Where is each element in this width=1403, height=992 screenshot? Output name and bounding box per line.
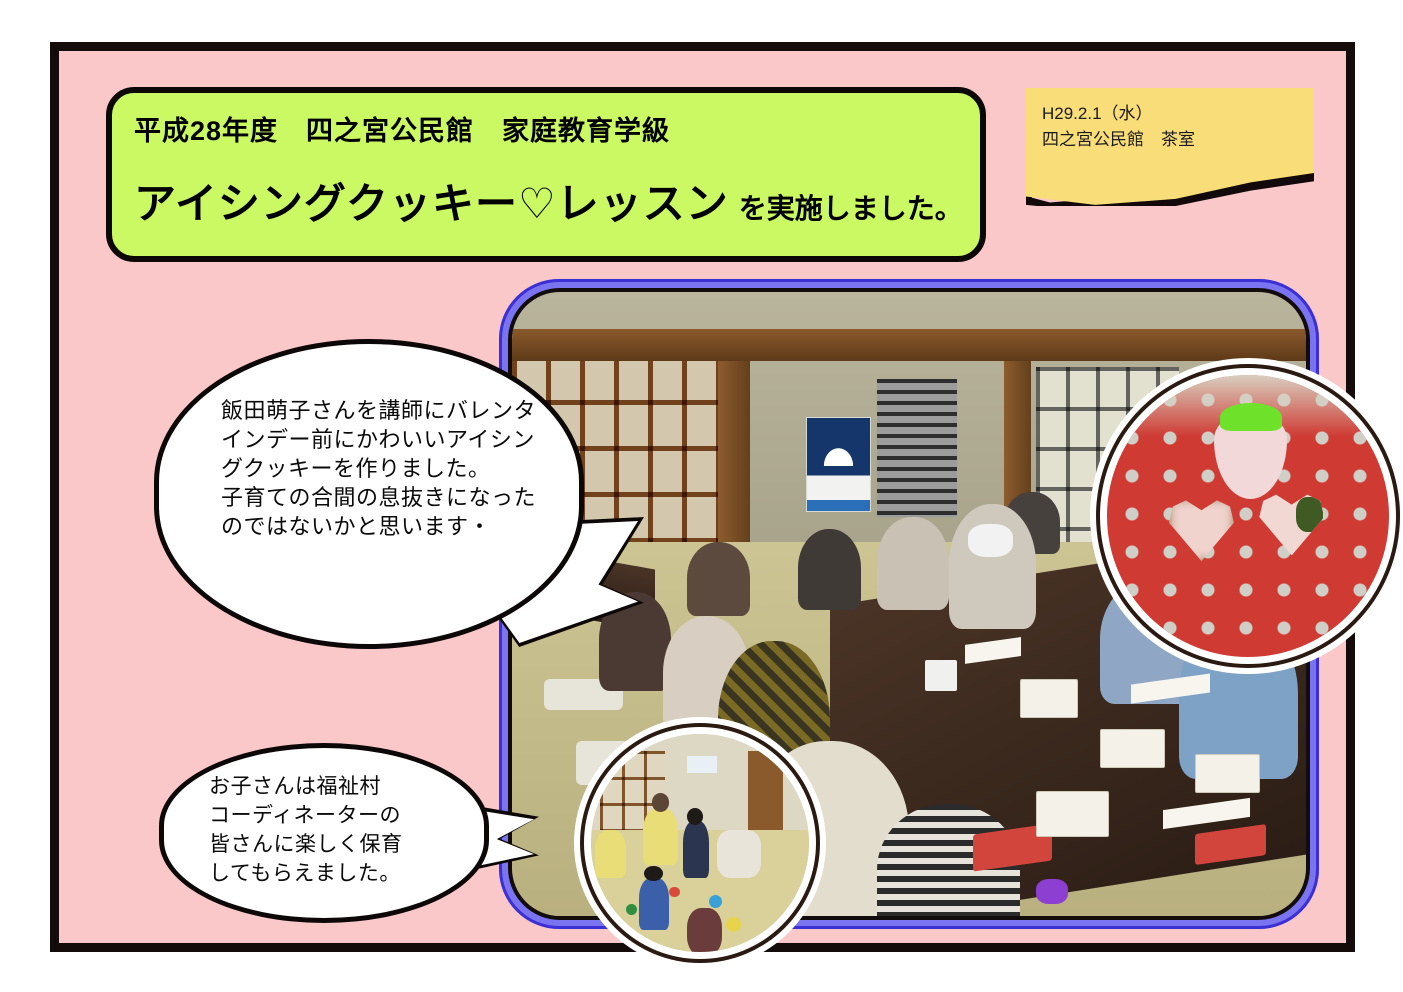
photo-gift-box — [1195, 754, 1261, 793]
bubble-text: 飯田萌子さんを講師にバレンタインデー前にかわいいアイシングクッキーを作りました。… — [221, 396, 551, 541]
title-banner: 平成28年度 四之宮公民館 家庭教育学級 アイシングクッキー♡レッスン を実施し… — [106, 87, 986, 262]
bubble-body: お子さんは福祉村 コーディネーターの 皆さんに楽しく保育 してもらえました。 — [159, 743, 489, 923]
inset-photo-cookies — [1100, 368, 1396, 664]
photo-gift-box — [1100, 729, 1166, 768]
inset-photo-childcare — [584, 727, 816, 959]
photo-scissors — [1036, 879, 1068, 904]
childcare-staff — [595, 830, 626, 878]
photo-gift-box — [1036, 791, 1109, 837]
date-location-note: H29.2.1（水） 四之宮公民館 茶室 — [1026, 88, 1314, 206]
photo-participant — [798, 529, 862, 610]
page-title-suffix: を実施しました。 — [739, 187, 963, 227]
childcare-child — [683, 821, 709, 878]
photo-shelf — [877, 379, 956, 516]
childcare-child — [639, 878, 670, 930]
bubble-text: お子さんは福祉村 コーディネーターの 皆さんに楽しく保育 してもらえました。 — [209, 773, 479, 889]
page-title: アイシングクッキー♡レッスン — [134, 170, 729, 231]
photo-gift-box — [1020, 679, 1078, 718]
photo-participant — [687, 542, 751, 617]
childcare-toy — [626, 904, 637, 915]
poster-card: 平成28年度 四之宮公民館 家庭教育学級 アイシングクッキー♡レッスン を実施し… — [50, 42, 1355, 952]
speech-bubble-lesson: 飯田萌子さんを講師にバレンタインデー前にかわいいアイシングクッキーを作りました。… — [154, 339, 634, 669]
banner-title-row: アイシングクッキー♡レッスン を実施しました。 — [134, 170, 980, 231]
photo-participant — [877, 517, 948, 611]
note-text: H29.2.1（水） 四之宮公民館 茶室 — [1042, 101, 1304, 152]
poster-canvas: 平成28年度 四之宮公民館 家庭教育学級 アイシングクッキー♡レッスン を実施し… — [0, 0, 1403, 992]
photo-cup — [925, 660, 957, 691]
banner-subtitle: 平成28年度 四之宮公民館 家庭教育学級 — [134, 109, 980, 148]
photo-fuji-calendar — [806, 417, 872, 513]
childcare-staff — [643, 808, 678, 865]
childcare-staff — [717, 830, 761, 878]
speech-bubble-childcare: お子さんは福祉村 コーディネーターの 皆さんに楽しく保育 してもらえました。 — [159, 743, 559, 933]
bubble-body: 飯田萌子さんを講師にバレンタインデー前にかわいいアイシングクッキーを作りました。… — [154, 339, 584, 649]
childcare-child — [687, 908, 722, 956]
childcare-notice — [687, 756, 718, 773]
photo-participant-masked — [949, 504, 1036, 629]
